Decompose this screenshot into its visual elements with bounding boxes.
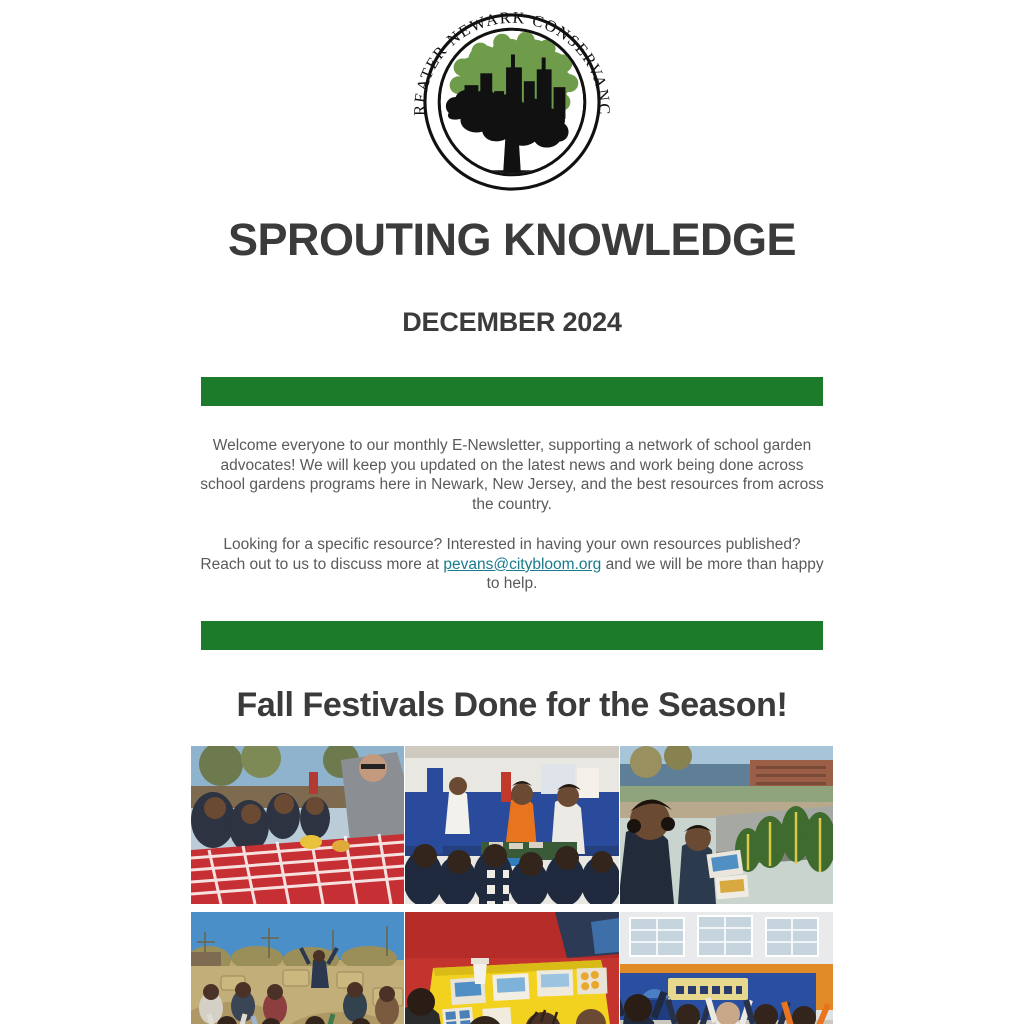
greater-newark-conservancy-logo: GREATER NEWARK CONSERVANCY [403,8,621,196]
photo-gym-stretching [620,912,833,1024]
bottom-divider-row [0,621,1024,650]
issue-date: DECEMBER 2024 [0,263,1024,338]
photo-yellow-table-books [405,912,619,1024]
top-green-divider [201,377,823,406]
intro-section: Welcome everyone to our monthly E-Newsle… [200,406,824,594]
bottom-green-divider [201,621,823,650]
photo-indoor-blue-wall-activity [405,746,619,904]
top-divider-row [0,377,1024,406]
logo-container: GREATER NEWARK CONSERVANCY [0,0,1024,196]
photo-garden-beds-students [620,746,833,904]
photo-field-sitting-circle [191,912,404,1024]
intro-paragraph-2: Looking for a specific resource? Interes… [200,535,824,594]
newsletter-page: GREATER NEWARK CONSERVANCY [0,0,1024,1024]
contact-email-link[interactable]: pevans@citybloom.org [443,556,601,573]
masthead: SPROUTING KNOWLEDGE DECEMBER 2024 [0,216,1024,338]
photo-grid [191,725,833,1024]
page-title: SPROUTING KNOWLEDGE [0,216,1024,263]
section-heading: Fall Festivals Done for the Season! [0,650,1024,725]
intro-paragraph-1: Welcome everyone to our monthly E-Newsle… [200,436,824,514]
photo-outdoor-table-red-checkered [191,746,404,904]
